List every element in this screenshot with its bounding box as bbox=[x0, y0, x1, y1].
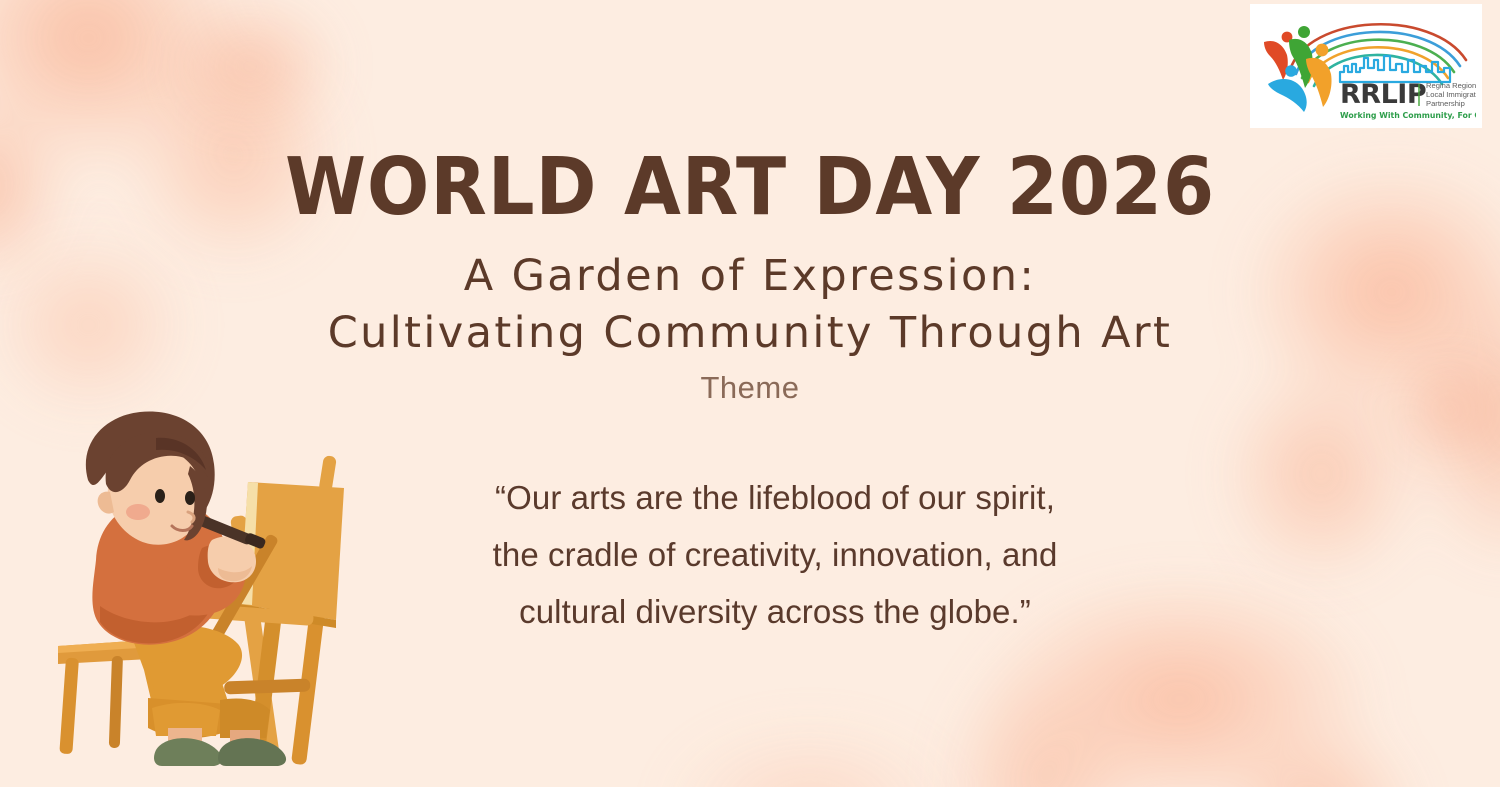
page-title: WORLD ART DAY 2026 bbox=[53, 148, 1448, 227]
subtitle-line-2: Cultivating Community Through Art bbox=[0, 305, 1500, 362]
quote-line-2: the cradle of creativity, innovation, an… bbox=[400, 527, 1150, 584]
svg-text:Partnership: Partnership bbox=[1426, 99, 1465, 108]
logo-tagline: Working With Community, For Community bbox=[1340, 111, 1476, 120]
rrlip-logo-svg: RRLIP Regina Region Local Immigration Pa… bbox=[1256, 8, 1476, 124]
poster-canvas: RRLIP Regina Region Local Immigration Pa… bbox=[0, 0, 1500, 787]
subtitle: A Garden of Expression: Cultivating Comm… bbox=[0, 248, 1500, 362]
logo-acronym: RRLIP bbox=[1340, 79, 1426, 110]
woman-painting-svg bbox=[52, 408, 392, 780]
logo-org-name: Regina Region Local Immigration Partners… bbox=[1426, 81, 1476, 108]
cheek-blush bbox=[126, 504, 150, 520]
quote-line-1: “Our arts are the lifeblood of our spiri… bbox=[400, 470, 1150, 527]
theme-label: Theme bbox=[0, 370, 1500, 406]
illustration-woman-painting bbox=[52, 408, 392, 780]
quote-line-3: cultural diversity across the globe.” bbox=[400, 584, 1150, 641]
svg-text:Local Immigration: Local Immigration bbox=[1426, 90, 1476, 99]
rrlip-logo: RRLIP Regina Region Local Immigration Pa… bbox=[1250, 4, 1482, 128]
svg-text:Regina Region: Regina Region bbox=[1426, 81, 1476, 90]
canvas-board bbox=[240, 482, 344, 628]
subtitle-line-1: A Garden of Expression: bbox=[0, 248, 1500, 305]
watercolor-wash-bottom-center bbox=[600, 687, 1020, 787]
eye-left bbox=[155, 489, 165, 503]
eye-right bbox=[185, 491, 195, 505]
shoes bbox=[154, 738, 286, 766]
quote-block: “Our arts are the lifeblood of our spiri… bbox=[400, 470, 1150, 640]
figure-green bbox=[1289, 26, 1313, 88]
